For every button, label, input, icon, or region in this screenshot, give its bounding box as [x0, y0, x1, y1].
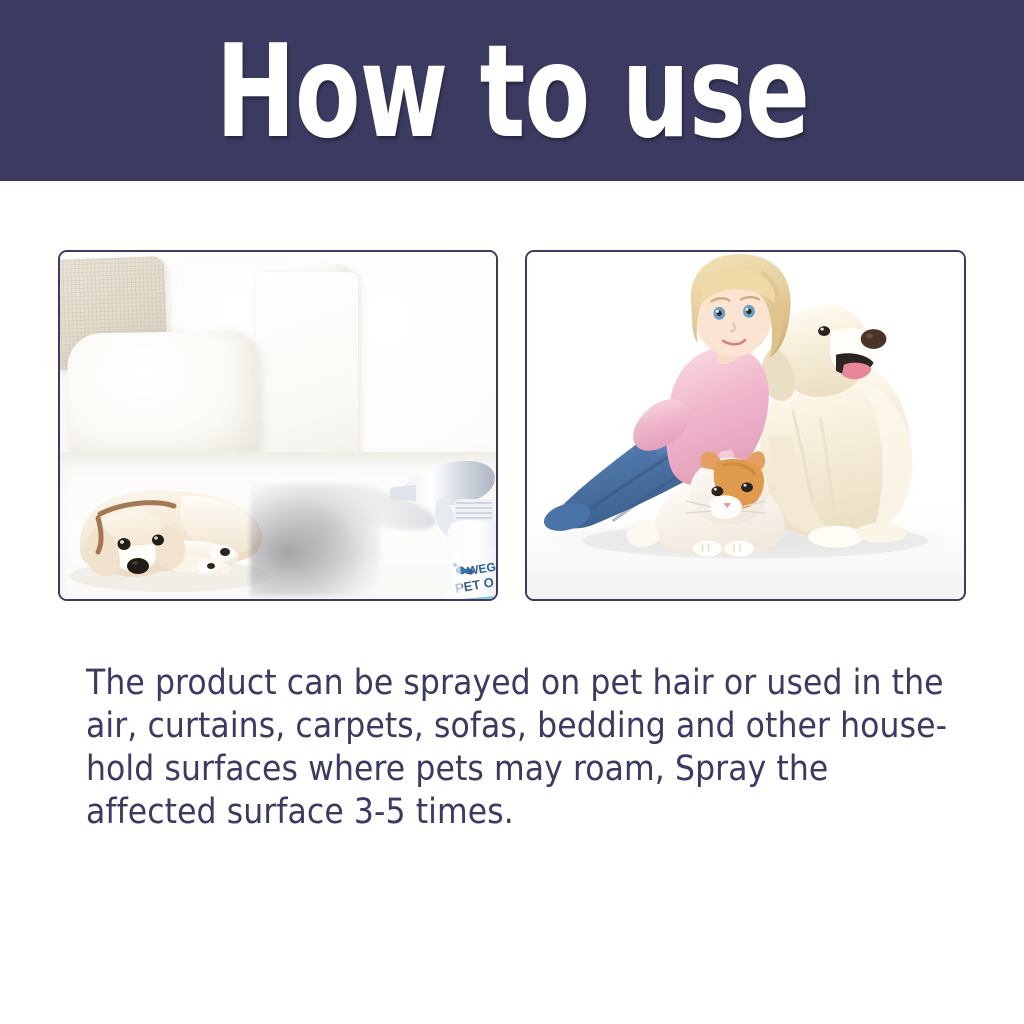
girl-dog-cat-illustration [527, 252, 964, 599]
photo-panel-left: WEGO PET O STAI [58, 250, 498, 601]
photo-panel-right [525, 250, 966, 601]
pet-odor-spray-bottle-icon: WEGO PET O STAI [390, 447, 496, 599]
scene-puppy-with-spray-bottle: WEGO PET O STAI [60, 252, 496, 599]
instructions-line-1: The product can be sprayed on pet hair o… [86, 662, 986, 705]
scene-girl-with-dog-and-cat [527, 252, 964, 599]
instructions-line-3: hold surfaces where pets may roam, Spray… [86, 748, 986, 791]
page-title: How to use [215, 34, 808, 152]
instructions-line-4: affected surface 3-5 times. [86, 791, 986, 834]
golden-retriever-puppy-icon [62, 452, 277, 599]
instructions-line-2: air, curtains, carpets, sofas, bedding a… [86, 705, 986, 748]
instructions-paragraph: The product can be sprayed on pet hair o… [86, 662, 986, 834]
header-banner: How to use [0, 0, 1024, 181]
front-pillow [67, 330, 259, 465]
square-pillow-right [256, 272, 358, 477]
how-to-use-infographic: How to use [0, 0, 1024, 1024]
